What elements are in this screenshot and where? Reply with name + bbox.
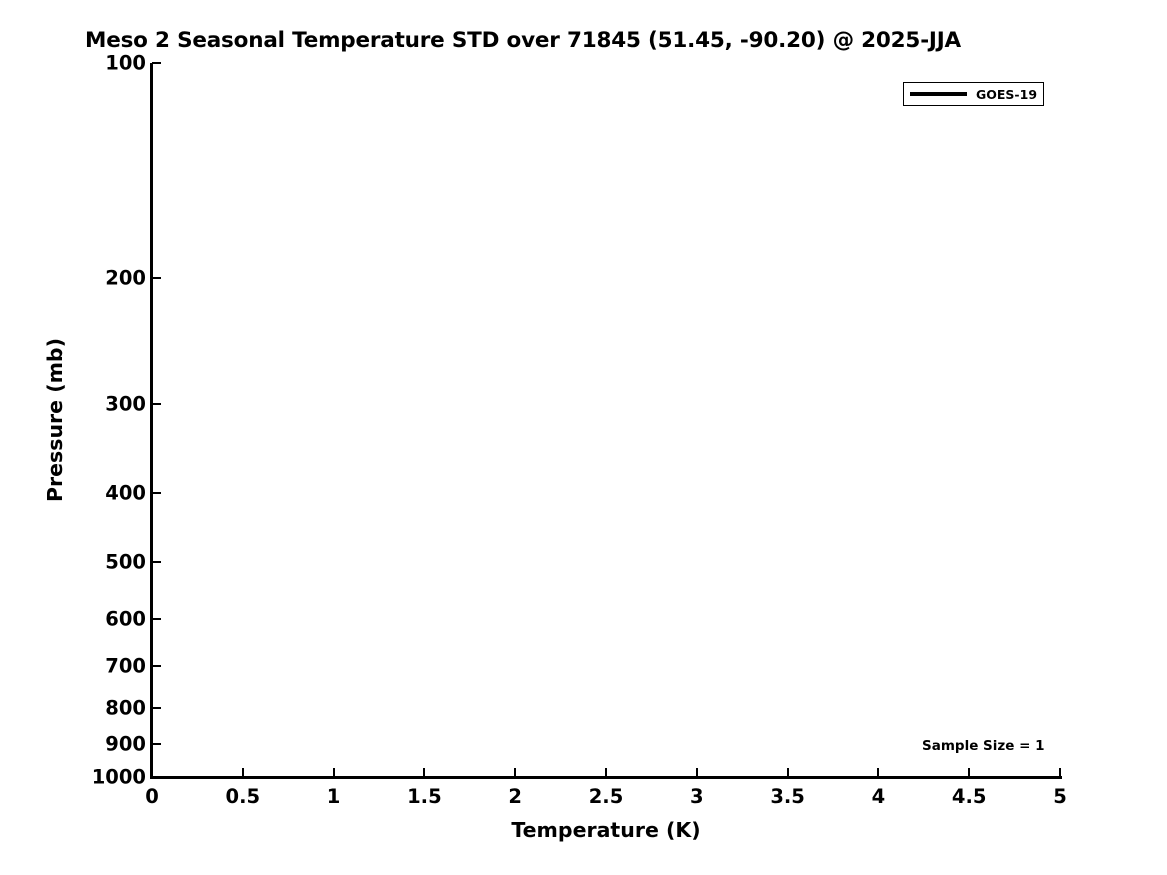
y-tick-label: 400 xyxy=(105,481,146,504)
x-tick-mark xyxy=(968,768,970,777)
y-tick-label: 800 xyxy=(105,696,146,719)
y-tick-label: 900 xyxy=(105,733,146,756)
x-tick-label: 2 xyxy=(508,785,522,808)
y-tick-mark xyxy=(152,62,161,64)
sample-size-annotation: Sample Size = 1 xyxy=(922,738,1045,754)
x-tick-label: 2.5 xyxy=(589,785,624,808)
x-tick-mark xyxy=(242,768,244,777)
x-tick-label: 1.5 xyxy=(407,785,442,808)
x-tick-mark xyxy=(877,768,879,777)
x-tick-label: 1 xyxy=(327,785,341,808)
y-tick-label: 600 xyxy=(105,607,146,630)
x-axis-label: Temperature (K) xyxy=(152,818,1060,842)
plot-area xyxy=(152,63,1060,777)
x-tick-label: 3 xyxy=(690,785,704,808)
y-tick-label: 1000 xyxy=(92,766,146,789)
y-axis-spine xyxy=(150,63,153,779)
x-tick-mark xyxy=(514,768,516,777)
chart-canvas: Meso 2 Seasonal Temperature STD over 718… xyxy=(0,0,1167,875)
x-tick-mark xyxy=(333,768,335,777)
legend: GOES-19 xyxy=(903,82,1044,106)
y-tick-mark xyxy=(152,776,161,778)
y-tick-label: 100 xyxy=(105,52,146,75)
x-tick-label: 4 xyxy=(872,785,886,808)
y-tick-label: 700 xyxy=(105,655,146,678)
legend-entry-goes-19: GOES-19 xyxy=(904,83,1043,105)
y-tick-mark xyxy=(152,743,161,745)
y-tick-mark xyxy=(152,707,161,709)
legend-line-swatch-icon xyxy=(910,92,967,95)
chart-title: Meso 2 Seasonal Temperature STD over 718… xyxy=(85,28,961,53)
y-tick-label: 500 xyxy=(105,551,146,574)
y-axis-label: Pressure (mb) xyxy=(43,63,67,777)
x-tick-mark xyxy=(787,768,789,777)
x-tick-mark xyxy=(696,768,698,777)
legend-entry-label: GOES-19 xyxy=(976,87,1037,102)
x-tick-mark xyxy=(1059,768,1061,777)
y-tick-mark xyxy=(152,277,161,279)
y-tick-label: 200 xyxy=(105,266,146,289)
y-tick-mark xyxy=(152,492,161,494)
y-tick-mark xyxy=(152,561,161,563)
y-tick-mark xyxy=(152,665,161,667)
x-tick-mark xyxy=(151,768,153,777)
y-tick-label: 300 xyxy=(105,392,146,415)
x-tick-label: 3.5 xyxy=(770,785,805,808)
x-tick-mark xyxy=(605,768,607,777)
x-tick-mark xyxy=(423,768,425,777)
x-tick-label: 5 xyxy=(1053,785,1067,808)
x-tick-label: 0 xyxy=(145,785,159,808)
x-tick-label: 4.5 xyxy=(952,785,987,808)
y-tick-mark xyxy=(152,618,161,620)
y-tick-mark xyxy=(152,403,161,405)
x-tick-label: 0.5 xyxy=(226,785,261,808)
